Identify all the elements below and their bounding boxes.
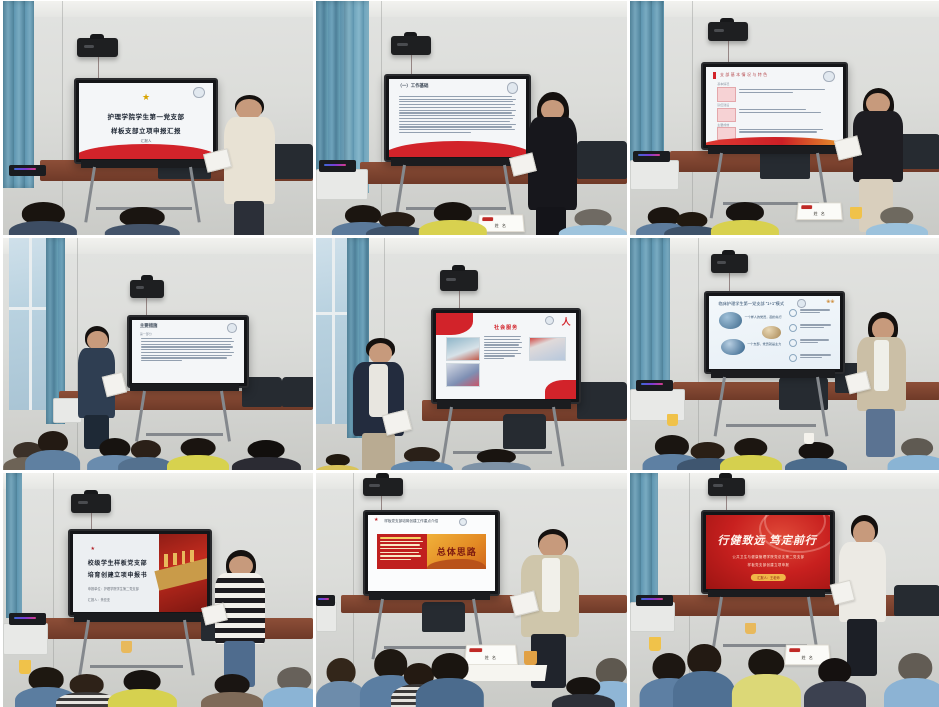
slide-header: 样板党支部培育创建工作重点介绍 [384, 519, 438, 524]
audience-member [108, 670, 176, 707]
audience-member [201, 674, 263, 707]
slide-footer-band [79, 144, 213, 159]
party-emblem-icon: ★ [90, 547, 94, 552]
presenter-figure [77, 326, 120, 447]
audience-member [316, 454, 360, 470]
router [316, 595, 335, 607]
photo-cell-middle-center[interactable]: 人 社会服务 [316, 238, 627, 470]
photo-cell-bottom-center[interactable]: ★ 样板党支部培育创建工作重点介绍 [316, 473, 627, 707]
audience-member [732, 649, 800, 707]
heading-accent-bar [713, 72, 716, 79]
audience-member [462, 449, 530, 470]
audience-member [263, 667, 313, 707]
bubble-image-3 [762, 326, 782, 340]
slide-text: （一）工作基础 [389, 79, 526, 157]
room-background: 支部基本情况与特色 基本情况 队伍建设 主要成效 [630, 1, 939, 235]
party-emblem-icon: ★ [374, 518, 378, 523]
photo-cell-bottom-right[interactable]: 行健致远 笃定前行 公共卫生与健康管理学院党总支第二党支部 样板党支部创建立项申… [630, 473, 939, 707]
audience-member [552, 677, 614, 707]
cover-title-line-2: 培育创建立项申报书 [88, 570, 147, 579]
paper-cup [850, 207, 862, 219]
chair [894, 585, 939, 615]
paper-cup [524, 651, 536, 665]
projector [130, 280, 164, 299]
room-background: 人 社会服务 [316, 238, 627, 470]
cover-meta-line-1: 申报单位：护理学院学生第二党支部 [88, 586, 139, 591]
inner-shirt [369, 364, 388, 417]
window [316, 238, 350, 424]
photo-collage: ★ 护理学院学生第一党支部 样板支部立项申报汇报 汇报人 [0, 0, 939, 704]
list-bullet-icon [789, 324, 797, 332]
slide-logo-icon [193, 87, 204, 98]
smart-board: ★ 护理学院学生第一党支部 样板支部立项申报汇报 汇报人 [74, 78, 218, 164]
nameplate: 姓 名 [797, 203, 844, 221]
list-bullet-icon [789, 354, 797, 362]
photo-cell-top-center[interactable]: （一）工作基础 [316, 1, 627, 235]
audience-member [105, 207, 179, 235]
slide-image-text: 人 社会服务 [436, 313, 576, 400]
audience-member [25, 431, 81, 470]
smart-board: ★ 校级学生样板党支部 培育创建立项申报书 申报单位：护理学院学生第二党支部 汇… [68, 529, 212, 617]
slide-heading: （一）工作基础 [398, 83, 429, 89]
bubble-label-2: 一个支部，党员就是主力 [747, 342, 781, 347]
audience-member [804, 658, 866, 707]
paper-cup [649, 637, 661, 651]
paper-cup [121, 641, 132, 653]
projector [71, 494, 111, 513]
banner-text: 总体思路 [437, 545, 477, 558]
block-text-2 [739, 109, 832, 115]
slide-body-text [141, 338, 235, 363]
router [9, 613, 46, 625]
photo-cell-bottom-left[interactable]: ★ 校级学生样板党支部 培育创建立项申报书 申报单位：护理学院学生第二党支部 汇… [3, 473, 313, 707]
slide-diagram: ❀❀ 临床护理学生第一党支部 “1+1”模式 一个样人的党员，起的先行 一个支部… [709, 296, 839, 369]
slide-title: ★ 护理学院学生第一党支部 样板支部立项申报汇报 汇报人 [79, 83, 213, 159]
chair [422, 602, 466, 632]
smart-board: （一）工作基础 [384, 74, 531, 162]
router [633, 151, 670, 163]
bubble-label-1: 一个样人的党员，起的先行 [745, 315, 782, 320]
audience-member [391, 447, 453, 470]
smart-board: 行健致远 笃定前行 公共卫生与健康管理学院党总支第二党支部 样板党支部创建立项申… [701, 510, 835, 594]
audience-member [887, 438, 939, 470]
room-background: ★ 校级学生样板党支部 培育创建立项申报书 申报单位：护理学院学生第二党支部 汇… [3, 473, 313, 707]
audience-member [785, 442, 847, 470]
audience-member [720, 438, 782, 470]
ceiling [630, 1, 939, 17]
smart-board: 人 社会服务 [431, 308, 581, 405]
photo-cell-middle-left[interactable]: 主要措施 第一部分 [3, 238, 313, 470]
cover-side-image [159, 534, 207, 612]
list-bullet-icon [789, 309, 797, 317]
side-cabinet [630, 160, 679, 190]
room-background: 主要措施 第一部分 [3, 238, 313, 470]
smart-board: ★ 样板党支部培育创建工作重点介绍 [363, 510, 501, 596]
projector [708, 22, 748, 41]
smart-board: 支部基本情况与特色 基本情况 队伍建设 主要成效 [701, 62, 848, 150]
audience-member [419, 202, 487, 235]
audience-member [559, 209, 627, 235]
party-emblem-icon: ★ [142, 93, 150, 102]
inner-shirt [542, 558, 560, 612]
inner-shirt [874, 340, 889, 392]
calligraphy-left: 行健致远 [717, 532, 765, 548]
banner-block: 总体思路 [377, 534, 487, 569]
smart-board: 主要措施 第一部分 [127, 315, 249, 389]
room-background: ★ 样板党支部培育创建工作重点介绍 [316, 473, 627, 707]
slide-text: 主要措施 第一部分 [132, 320, 244, 384]
side-cabinet [316, 602, 337, 632]
projector [708, 478, 745, 497]
slide-logo-icon [823, 71, 835, 83]
cover-subtitle-line-2: 样板党支部创建立项申报 [706, 562, 830, 567]
photo-cell-middle-right[interactable]: ❀❀ 临床护理学生第一党支部 “1+1”模式 一个样人的党员，起的先行 一个支部… [630, 238, 939, 470]
room-background: （一）工作基础 [316, 1, 627, 235]
side-cabinet [3, 623, 48, 655]
cover-meta-line-2: 汇报人：黄亚亚 [88, 597, 110, 602]
banner-left [377, 534, 428, 569]
corner-decor [545, 380, 576, 399]
paper-cup [745, 623, 756, 635]
projector [77, 38, 117, 57]
cover-title-line-1: 校级学生样板党支部 [88, 558, 147, 567]
slide-cover: ★ 校级学生样板党支部 培育创建立项申报书 申报单位：护理学院学生第二党支部 汇… [73, 534, 207, 612]
slide-red-cover: 行健致远 笃定前行 公共卫生与健康管理学院党总支第二党支部 样板党支部创建立项申… [706, 515, 830, 589]
banner-right: 总体思路 [427, 534, 486, 569]
block-label-1: 基本情况 [717, 82, 729, 86]
calligraphy-right: 笃定前行 [769, 532, 817, 548]
slide-body-text [484, 336, 523, 361]
slide-logo-icon [507, 82, 519, 94]
audience-member [167, 438, 229, 470]
router [636, 595, 673, 607]
router [319, 160, 356, 172]
room-background: ★ 护理学院学生第一党支部 样板支部立项申报汇报 汇报人 [3, 1, 313, 235]
ceiling [630, 238, 939, 254]
audience-member [673, 644, 735, 707]
presenter-figure [214, 550, 276, 686]
projector [391, 36, 431, 55]
presenter-figure [856, 312, 915, 456]
cover-subtitle-line-1: 公共卫生与健康管理学院党总支第二党支部 [706, 554, 830, 559]
window [9, 238, 49, 410]
audience-member [866, 207, 928, 235]
projector [711, 254, 748, 273]
smart-board: ❀❀ 临床护理学生第一党支部 “1+1”模式 一个样人的党员，起的先行 一个支部… [704, 291, 844, 374]
slide-three-block: 支部基本情况与特色 基本情况 队伍建设 主要成效 [706, 67, 843, 145]
room-background: ❀❀ 临床护理学生第一党支部 “1+1”模式 一个样人的党员，起的先行 一个支部… [630, 238, 939, 470]
paper-cup [804, 433, 815, 445]
chair [503, 414, 547, 449]
chair [577, 382, 627, 419]
block-icon-2 [717, 108, 735, 123]
room-background: 行健致远 笃定前行 公共卫生与健康管理学院党总支第二党支部 样板党支部创建立项申… [630, 473, 939, 707]
list-bullet-icon [789, 339, 797, 347]
router [636, 380, 673, 392]
ceiling [3, 473, 313, 489]
block-text-1 [739, 89, 832, 95]
audience-member [9, 202, 77, 235]
chair [282, 377, 313, 407]
slide-heading: 支部基本情况与特色 [720, 72, 769, 78]
audience-member [316, 658, 366, 707]
curtain [3, 1, 34, 188]
slide-heading: 主要措施 [140, 323, 158, 329]
slide-page-marker: 第一部分 [140, 332, 152, 336]
slide-title-line-2: 样板支部立项申报汇报 [79, 125, 213, 135]
cover-badge: 汇报人：王老师 [751, 574, 785, 581]
audience-member [416, 653, 484, 707]
projector [440, 270, 477, 291]
photo-cell-top-left[interactable]: ★ 护理学院学生第一党支部 样板支部立项申报汇报 汇报人 [3, 1, 313, 235]
side-cabinet [316, 169, 368, 199]
block-label-2: 队伍建设 [717, 103, 729, 107]
projector [363, 478, 403, 497]
slide-footer-band [389, 141, 526, 157]
ceiling [3, 1, 313, 17]
ceiling [630, 473, 939, 489]
slide-heading: 社会服务 [436, 324, 576, 331]
slide-logo-icon [459, 518, 467, 526]
presenter-figure [838, 515, 897, 674]
slide-logo-icon [797, 299, 806, 308]
slide-body-text [399, 96, 517, 135]
slide-photo-1 [446, 337, 480, 361]
paper-cup [667, 414, 678, 426]
presenter-figure [220, 95, 288, 235]
slide-list [789, 309, 833, 362]
audience-member [711, 202, 779, 235]
slide-title-line-1: 护理学院学生第一党支部 [79, 111, 213, 121]
audience-member [232, 440, 300, 470]
paper-cup [19, 660, 31, 674]
decor-icon: ❀❀ [826, 299, 834, 305]
side-cabinet [630, 602, 675, 632]
bubble-image-2 [721, 339, 744, 356]
slide-photo-2 [446, 363, 480, 388]
block-text-3 [739, 129, 832, 135]
audience-member [118, 440, 174, 470]
slide-heading: 临床护理学生第一党支部 “1+1”模式 [719, 301, 785, 307]
block-icon-1 [717, 87, 735, 102]
slide-photo-3 [529, 337, 566, 362]
photo-cell-top-right[interactable]: 支部基本情况与特色 基本情况 队伍建设 主要成效 [630, 1, 939, 235]
slide-banner: ★ 样板党支部培育创建工作重点介绍 [368, 515, 496, 591]
slide-logo-icon [227, 323, 237, 333]
router [9, 165, 46, 177]
bubble-image-1 [719, 312, 742, 329]
audience-member [884, 653, 939, 707]
